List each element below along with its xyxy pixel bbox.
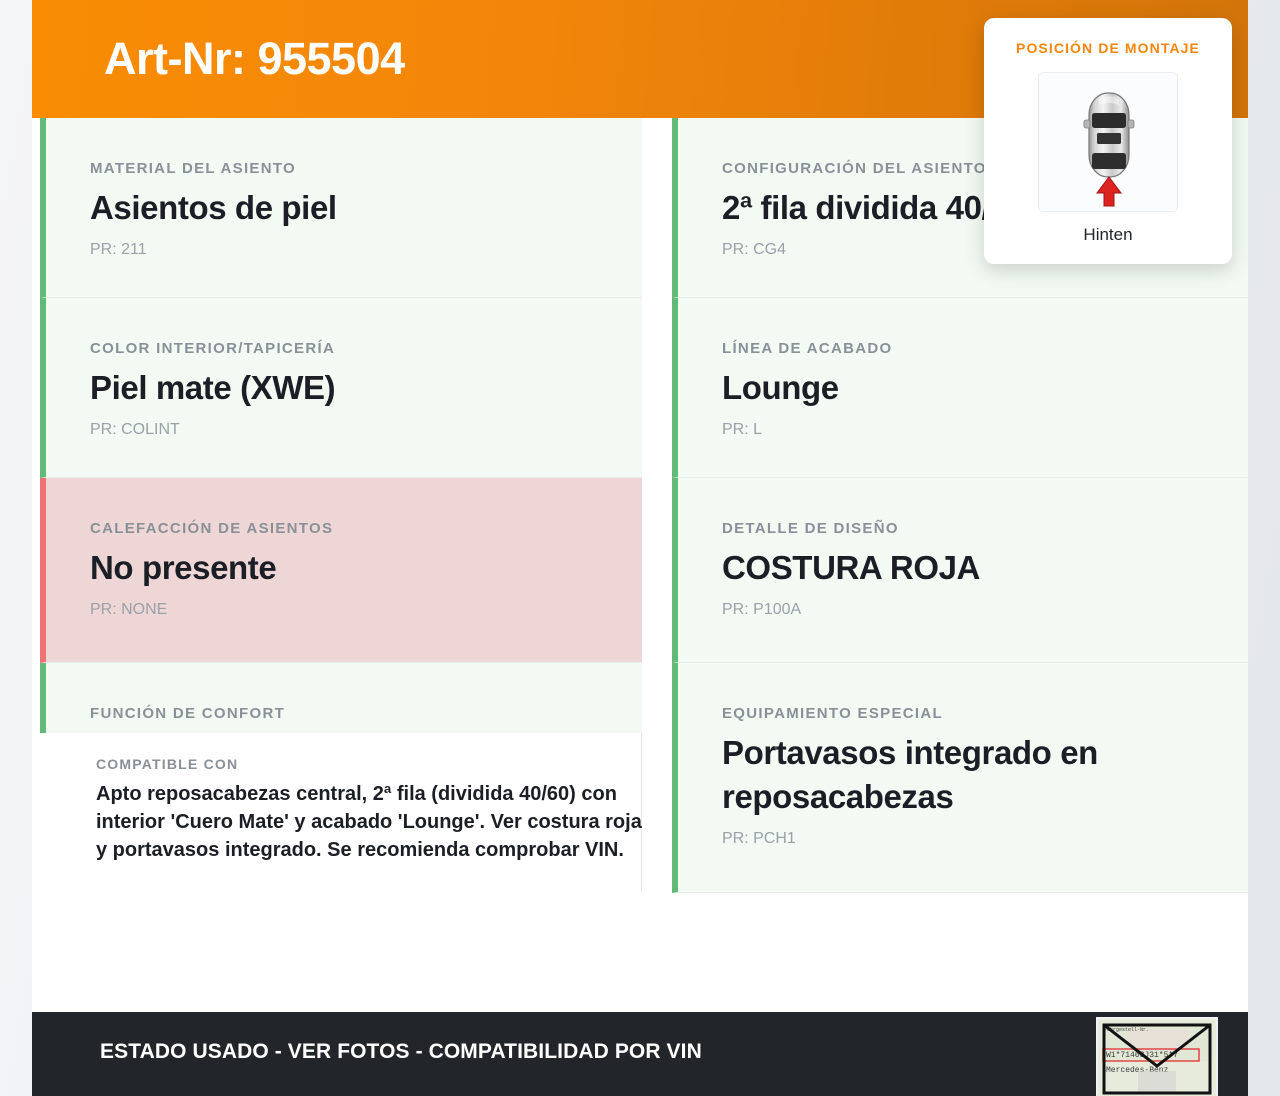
spec-value: Portavasos integrado en reposacabezas	[722, 731, 1192, 819]
spec-label: COLOR INTERIOR/TAPICERÍA	[90, 340, 642, 358]
spec-label: FUNCIÓN DE CONFORT	[90, 705, 642, 723]
vehicle-registration-vin-envelope-icon: Fahrgestell-Nr. W1*71463J31*5*7 Mercedes…	[1098, 1019, 1216, 1096]
compatible-with-label: COMPATIBLE CON	[96, 755, 611, 773]
spec-pr-code: PR: COLINT	[90, 420, 642, 440]
mounting-position-title: POSICIÓN DE MONTAJE	[984, 40, 1232, 56]
spec-cell-color-interior-tapiceria[interactable]: COLOR INTERIOR/TAPICERÍA Piel mate (XWE)…	[40, 298, 642, 478]
spec-cell-calefaccion-de-asientos[interactable]: CALEFACCIÓN DE ASIENTOS No presente PR: …	[40, 478, 642, 663]
footer-notice: ESTADO USADO - VER FOTOS - COMPATIBILIDA…	[100, 1040, 702, 1064]
spec-pr-code: PR: P100A	[722, 600, 1248, 620]
product-spec-sheet: Art-Nr: 955504 MATERIAL DEL ASIENTO Asie…	[32, 0, 1248, 1096]
spec-label: DETALLE DE DISEÑO	[722, 520, 1248, 538]
mounting-position-image-box	[1038, 72, 1178, 212]
spec-label: LÍNEA DE ACABADO	[722, 340, 1248, 358]
spec-value: COSTURA ROJA	[722, 546, 1248, 590]
mounting-position-caption: Hinten	[984, 225, 1232, 245]
car-top-view-rear-arrow-icon	[1039, 73, 1179, 213]
spec-pr-code: PR: NONE	[90, 600, 642, 620]
compatible-with-text: Apto reposacabezas central, 2ª fila (div…	[96, 780, 644, 864]
spec-cell-material-del-asiento[interactable]: MATERIAL DEL ASIENTO Asientos de piel PR…	[40, 118, 642, 298]
spec-label: MATERIAL DEL ASIENTO	[90, 160, 642, 178]
footer-bar: ESTADO USADO - VER FOTOS - COMPATIBILIDA…	[32, 1012, 1248, 1096]
spec-cell-equipamiento-especial[interactable]: EQUIPAMIENTO ESPECIAL Portavasos integra…	[672, 663, 1248, 893]
spec-cell-detalle-de-diseno[interactable]: DETALLE DE DISEÑO COSTURA ROJA PR: P100A	[672, 478, 1248, 663]
page-title: Art-Nr: 955504	[104, 30, 405, 88]
spec-label: EQUIPAMIENTO ESPECIAL	[722, 705, 1248, 723]
spec-value: Piel mate (XWE)	[90, 366, 642, 410]
spec-value: Lounge	[722, 366, 1248, 410]
vin-document-thumbnail[interactable]: Fahrgestell-Nr. W1*71463J31*5*7 Mercedes…	[1096, 1017, 1218, 1096]
spec-label: CALEFACCIÓN DE ASIENTOS	[90, 520, 642, 538]
spec-pr-code: PR: L	[722, 420, 1248, 440]
spec-pr-code: PR: 211	[90, 240, 642, 260]
spec-pr-code: PR: PCH1	[722, 829, 1248, 849]
spec-cell-linea-de-acabado[interactable]: LÍNEA DE ACABADO Lounge PR: L	[672, 298, 1248, 478]
spec-value: Asientos de piel	[90, 186, 642, 230]
spec-value: No presente	[90, 546, 642, 590]
mounting-position-card: POSICIÓN DE MONTAJE	[984, 18, 1232, 264]
compatible-with-panel: COMPATIBLE CON Apto reposacabezas centra…	[40, 733, 642, 893]
